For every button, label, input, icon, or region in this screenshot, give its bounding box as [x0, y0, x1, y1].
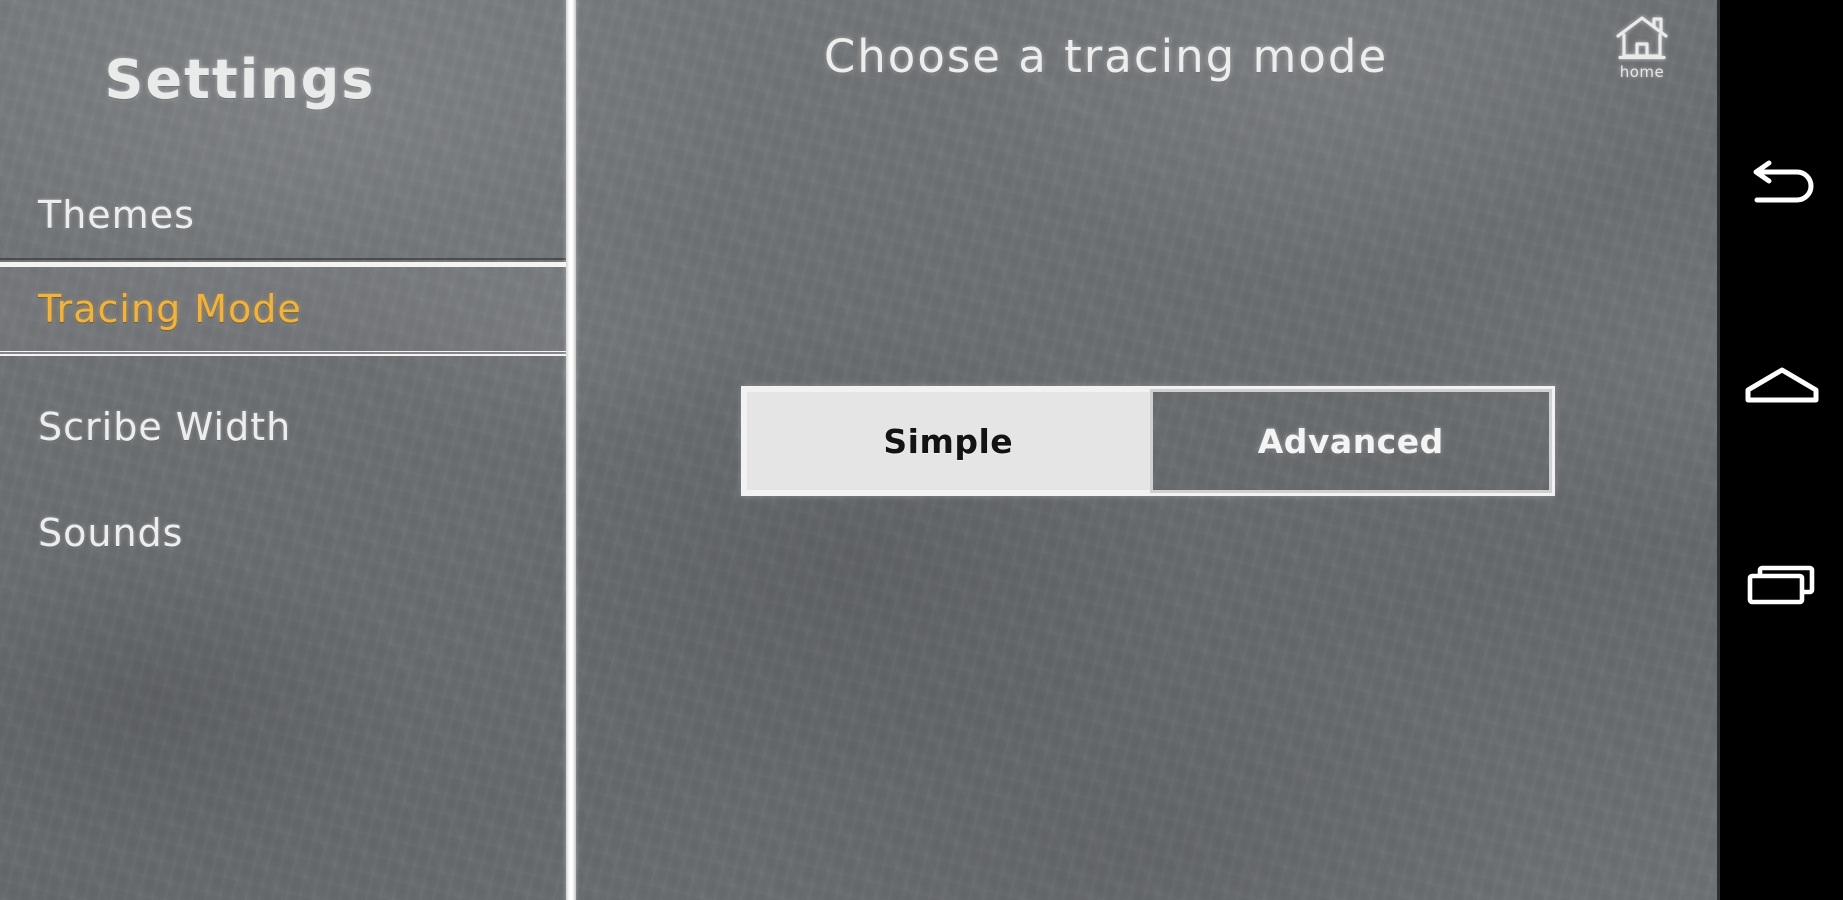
sidebar-item-label: Tracing Mode	[38, 287, 302, 331]
segment-advanced[interactable]: Advanced	[1150, 389, 1553, 493]
home-button-caption: home	[1620, 63, 1665, 81]
home-button[interactable]: home	[1599, 14, 1685, 88]
tracing-mode-selector[interactable]: Simple Advanced	[741, 386, 1555, 496]
sidebar-item-tracing-mode[interactable]: Tracing Mode	[0, 262, 566, 356]
recents-stacked-rectangles-icon	[1744, 560, 1820, 610]
sidebar-rule	[0, 258, 566, 260]
sidebar-item-scribe-width[interactable]: Scribe Width	[0, 382, 566, 472]
nav-home-button[interactable]	[1720, 330, 1843, 440]
sidebar-item-label: Themes	[38, 193, 195, 237]
home-pentagon-icon	[1743, 363, 1821, 407]
sidebar-rule	[0, 352, 566, 354]
back-arrow-icon	[1745, 159, 1819, 213]
segment-label: Advanced	[1258, 422, 1444, 461]
main-content: Choose a tracing mode home	[576, 0, 1720, 900]
sidebar-item-sounds[interactable]: Sounds	[0, 488, 566, 578]
android-navigation-bar	[1717, 0, 1843, 900]
sidebar-item-themes[interactable]: Themes	[0, 170, 566, 260]
nav-recents-button[interactable]	[1720, 530, 1843, 640]
page-title: Settings	[0, 48, 480, 111]
app-screen: Settings Themes Tracing Mode Scribe Widt…	[0, 0, 1843, 900]
segment-simple[interactable]: Simple	[747, 392, 1150, 490]
nav-back-button[interactable]	[1720, 131, 1843, 241]
sidebar-divider	[566, 0, 576, 900]
main-heading: Choose a tracing mode	[576, 30, 1636, 83]
sidebar-item-label: Sounds	[38, 511, 183, 555]
sidebar-item-label: Scribe Width	[38, 405, 291, 449]
segmented-control-wrap: Simple Advanced	[576, 386, 1720, 496]
segment-label: Simple	[883, 422, 1013, 461]
settings-sidebar: Settings Themes Tracing Mode Scribe Widt…	[0, 0, 566, 900]
home-house-icon	[1613, 14, 1671, 62]
